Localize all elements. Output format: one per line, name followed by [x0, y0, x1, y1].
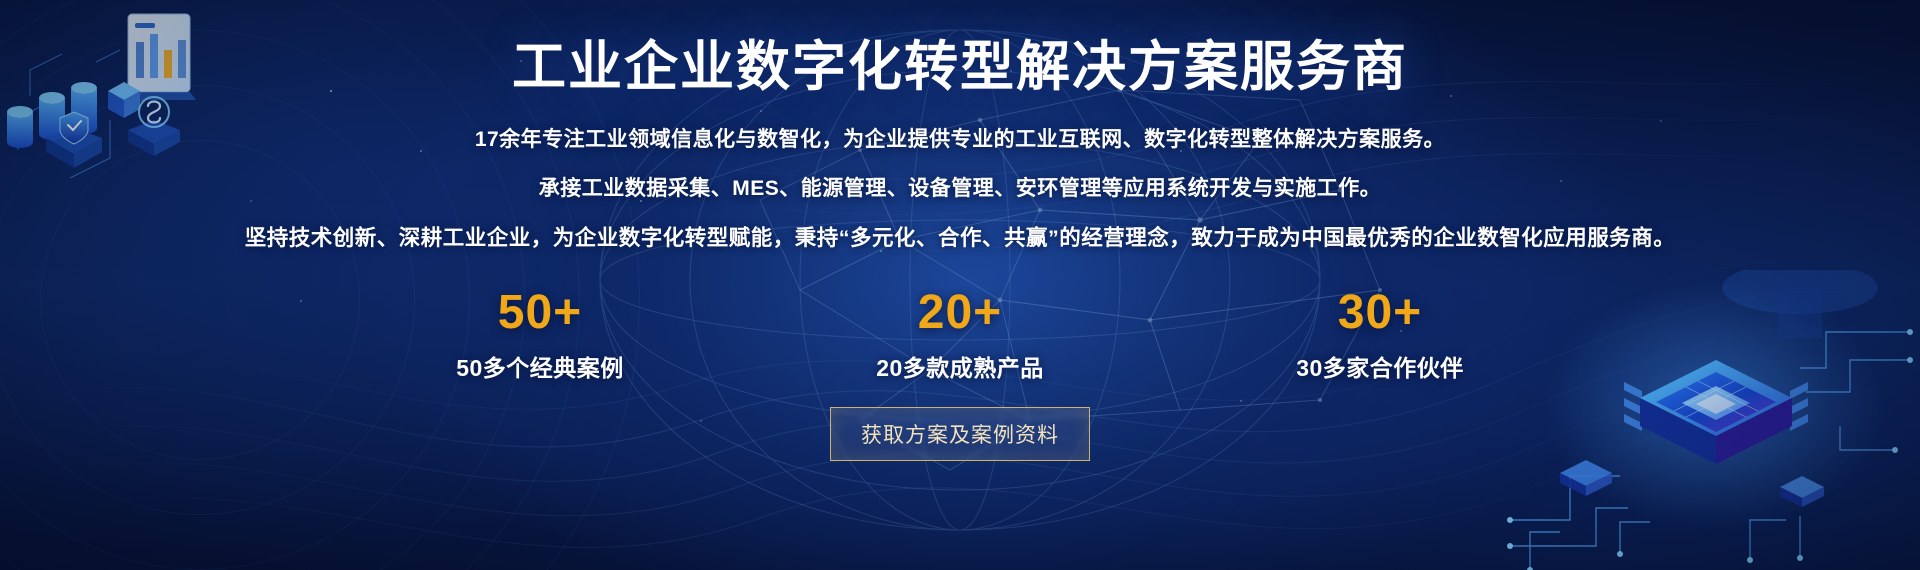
- cta-wrapper: 获取方案及案例资料: [830, 407, 1090, 461]
- stat-label: 20多款成熟产品: [830, 349, 1090, 383]
- stat-label: 50多个经典案例: [410, 349, 670, 383]
- stat-number: 20+: [830, 288, 1090, 338]
- stat-number: 50+: [410, 288, 670, 338]
- get-solution-button[interactable]: 获取方案及案例资料: [830, 407, 1090, 461]
- page-title: 工业企业数字化转型解决方案服务商: [512, 38, 1408, 97]
- stat-number: 30+: [1250, 288, 1510, 338]
- stat-item-cases: 50+ 50多个经典案例: [410, 288, 670, 382]
- hero-banner: 工业企业数字化转型解决方案服务商 17余年专注工业领域信息化与数智化，为企业提供…: [0, 0, 1920, 570]
- subtitle-line-1: 17余年专注工业领域信息化与数智化，为企业提供专业的工业互联网、数字化转型整体解…: [245, 123, 1676, 153]
- stat-label: 30多家合作伙伴: [1250, 349, 1510, 383]
- stats-row: 50+ 50多个经典案例 20+ 20多款成熟产品 30+ 30多家合作伙伴: [410, 288, 1510, 382]
- banner-content: 工业企业数字化转型解决方案服务商 17余年专注工业领域信息化与数智化，为企业提供…: [0, 0, 1920, 570]
- stat-item-products: 20+ 20多款成熟产品: [830, 288, 1090, 382]
- subtitle-line-3: 坚持技术创新、深耕工业企业，为企业数字化转型赋能，秉持“多元化、合作、共赢”的经…: [245, 221, 1676, 252]
- subtitle-block: 17余年专注工业领域信息化与数智化，为企业提供专业的工业互联网、数字化转型整体解…: [245, 97, 1676, 252]
- stat-item-partners: 30+ 30多家合作伙伴: [1250, 288, 1510, 382]
- subtitle-line-2: 承接工业数据采集、MES、能源管理、设备管理、安环管理等应用系统开发与实施工作。: [245, 172, 1676, 202]
